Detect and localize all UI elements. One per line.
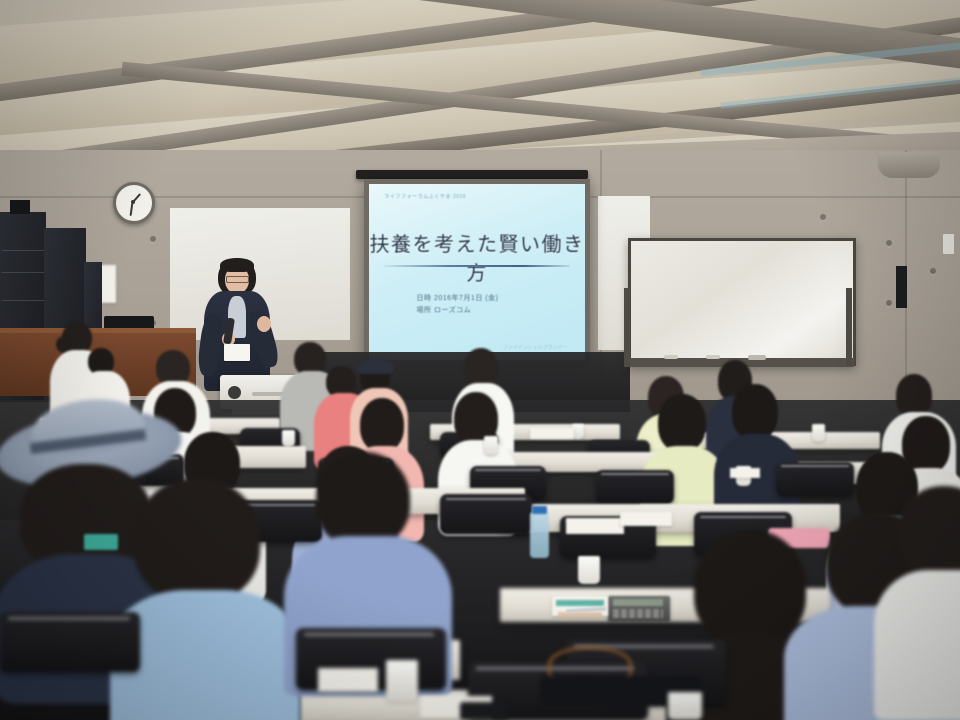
slide-date-line: 日時 2016年7月1日 (金) xyxy=(417,293,499,305)
paper-cup xyxy=(578,556,600,584)
handout xyxy=(730,468,760,478)
slide-meta: 日時 2016年7月1日 (金) 場所 ローズコム xyxy=(417,293,499,318)
projection-screen: ライフフォーラムふくやま 2016 扶養を考えた賢い働き方 日時 2016年7月… xyxy=(364,179,590,365)
whiteboard-leg xyxy=(846,288,852,366)
seminar-room-photo: ライフフォーラムふくやま 2016 扶養を考えた賢い働き方 日時 2016年7月… xyxy=(0,0,960,720)
wall-clock xyxy=(113,182,155,224)
paper-cup xyxy=(668,692,702,720)
paper-cup xyxy=(282,430,295,447)
rack-top-unit xyxy=(10,200,30,214)
handout xyxy=(620,512,672,526)
whiteboard-marker xyxy=(706,355,720,359)
slide-divider xyxy=(384,265,570,267)
chair xyxy=(0,612,140,672)
slide-title-text: 扶養を考えた賢い働き方 xyxy=(369,228,585,286)
calculator xyxy=(608,596,670,622)
slide-place-line: 場所 ローズコム xyxy=(417,305,499,317)
whiteboard xyxy=(628,238,856,366)
slide-header-text: ライフフォーラムふくやま 2016 xyxy=(384,193,466,200)
chair xyxy=(440,494,532,534)
handout xyxy=(318,668,378,692)
whiteboard-leg xyxy=(624,288,630,366)
paper-cup xyxy=(812,424,825,442)
handout xyxy=(530,428,574,439)
wall-notice xyxy=(100,265,116,303)
cap-icon xyxy=(358,359,394,374)
paper-cup xyxy=(484,436,498,455)
presenter-hand-gesture xyxy=(257,316,271,332)
wall-vent xyxy=(896,266,907,308)
chair xyxy=(776,462,854,496)
wall-speaker-icon xyxy=(878,152,940,178)
handout xyxy=(566,518,624,534)
handout-accent xyxy=(558,612,602,617)
water-bottle xyxy=(530,512,549,558)
light-switch[interactable] xyxy=(943,234,954,254)
name-badge xyxy=(224,344,250,361)
whiteboard-eraser xyxy=(748,355,766,360)
glasses-icon xyxy=(226,276,249,283)
smartphone xyxy=(460,702,508,720)
handout-accent xyxy=(556,600,604,606)
bottle-cap xyxy=(532,506,547,514)
paper-cup xyxy=(386,660,418,702)
podium-top xyxy=(0,328,196,333)
whiteboard-marker xyxy=(664,355,678,359)
presenter-fringe xyxy=(220,258,254,272)
projector-lens-icon xyxy=(228,386,241,399)
screen-roller-case xyxy=(356,170,588,179)
slide-footer-text: ファイナンシャルプランナー xyxy=(503,344,568,351)
chair xyxy=(596,470,674,504)
green-card xyxy=(84,534,118,550)
presentation-slide: ライフフォーラムふくやま 2016 扶養を考えた賢い働き方 日時 2016年7月… xyxy=(369,184,585,360)
